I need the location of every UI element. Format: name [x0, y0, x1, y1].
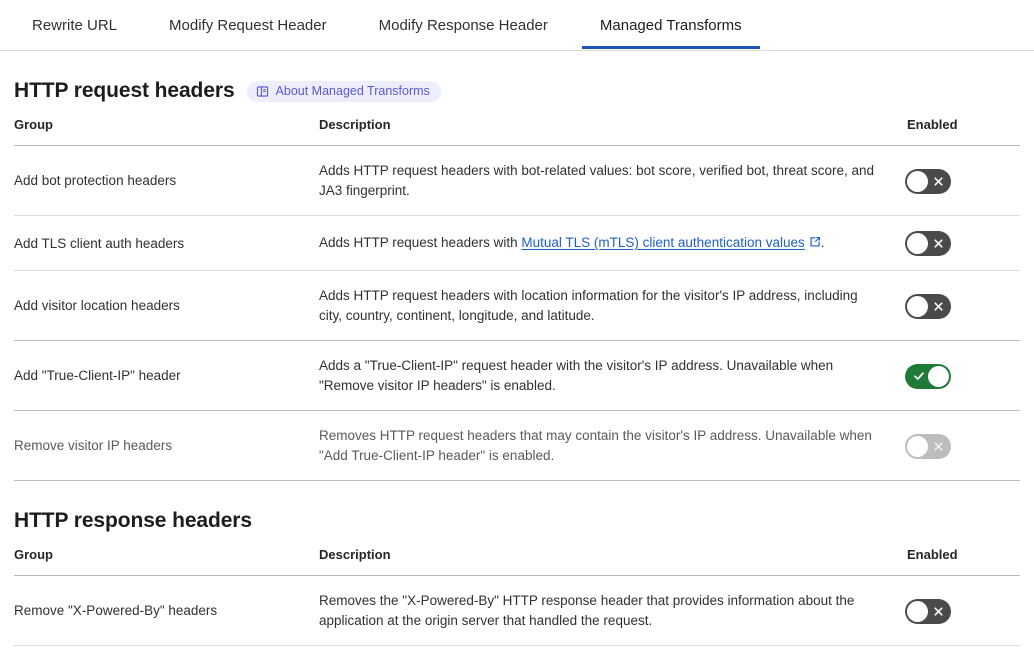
row-enabled-cell — [905, 341, 1020, 411]
row-enabled-cell — [905, 216, 1020, 271]
response-headers-table: Group Description Enabled Remove "X-Powe… — [14, 547, 1020, 653]
toggle-knob — [907, 171, 928, 192]
row-group-label: Remove visitor IP headers — [14, 411, 319, 481]
check-icon — [913, 364, 925, 389]
row-description: Adds HTTP request headers with bot-relat… — [319, 146, 905, 216]
toggle-remove-x-powered-by-headers[interactable] — [905, 599, 951, 624]
description-prefix: Adds HTTP request headers with — [319, 235, 521, 250]
description-suffix: . — [821, 235, 825, 250]
table-row: Remove visitor IP headers Removes HTTP r… — [14, 411, 1020, 481]
tab-rewrite-url[interactable]: Rewrite URL — [14, 0, 135, 49]
row-description: Adds several security-related HTTP respo… — [319, 646, 905, 653]
toggle-knob — [907, 233, 928, 254]
table-row: Add visitor location headers Adds HTTP r… — [14, 271, 1020, 341]
toggle-knob — [907, 601, 928, 622]
table-row: Add bot protection headers Adds HTTP req… — [14, 146, 1020, 216]
managed-transforms-page: Rewrite URL Modify Request Header Modify… — [0, 0, 1034, 653]
mtls-client-auth-link[interactable]: Mutual TLS (mTLS) client authentication … — [521, 235, 804, 250]
row-group-label: Add visitor location headers — [14, 271, 319, 341]
toggle-remove-visitor-ip-headers — [905, 434, 951, 459]
row-description: Adds HTTP request headers with Mutual TL… — [319, 216, 905, 271]
toggle-add-bot-protection-headers[interactable] — [905, 169, 951, 194]
toggle-knob — [907, 296, 928, 317]
tab-modify-request-header[interactable]: Modify Request Header — [151, 0, 345, 49]
toggle-add-tls-client-auth-headers[interactable] — [905, 231, 951, 256]
row-group-label: Add bot protection headers — [14, 146, 319, 216]
table-header-row: Group Description Enabled — [14, 547, 1020, 576]
response-section-title: HTTP response headers — [14, 509, 252, 533]
request-section-header: HTTP request headers About Managed Trans… — [14, 79, 1020, 103]
table-row: Add TLS client auth headers Adds HTTP re… — [14, 216, 1020, 271]
table-row: Add "True-Client-IP" header Adds a "True… — [14, 341, 1020, 411]
response-section-header: HTTP response headers — [14, 509, 1020, 533]
row-enabled-cell — [905, 646, 1020, 653]
close-icon — [932, 294, 944, 319]
close-icon — [932, 231, 944, 256]
column-header-group: Group — [14, 117, 319, 146]
row-enabled-cell — [905, 411, 1020, 481]
toggle-knob — [907, 436, 928, 457]
book-icon — [256, 85, 269, 98]
row-enabled-cell — [905, 576, 1020, 646]
table-row: Remove "X-Powered-By" headers Removes th… — [14, 576, 1020, 646]
toggle-add-true-client-ip-header[interactable] — [905, 364, 951, 389]
toggle-add-visitor-location-headers[interactable] — [905, 294, 951, 319]
column-header-group: Group — [14, 547, 319, 576]
column-header-description: Description — [319, 547, 905, 576]
tab-modify-response-header[interactable]: Modify Response Header — [361, 0, 566, 49]
table-row: Add security headers Adds several securi… — [14, 646, 1020, 653]
tab-bar: Rewrite URL Modify Request Header Modify… — [0, 0, 1034, 51]
http-response-headers-section: HTTP response headers Group Description … — [0, 509, 1034, 653]
row-group-label: Add security headers — [14, 646, 319, 653]
http-request-headers-section: HTTP request headers About Managed Trans… — [0, 79, 1034, 481]
row-enabled-cell — [905, 271, 1020, 341]
external-link-icon[interactable] — [809, 234, 821, 254]
row-group-label: Add TLS client auth headers — [14, 216, 319, 271]
toggle-knob — [928, 366, 949, 387]
row-description: Removes the "X-Powered-By" HTTP response… — [319, 576, 905, 646]
row-enabled-cell — [905, 146, 1020, 216]
badge-label: About Managed Transforms — [276, 85, 430, 98]
tab-managed-transforms[interactable]: Managed Transforms — [582, 0, 760, 49]
table-header-row: Group Description Enabled — [14, 117, 1020, 146]
column-header-enabled: Enabled — [905, 117, 1020, 146]
request-headers-table: Group Description Enabled Add bot protec… — [14, 117, 1020, 481]
row-group-label: Add "True-Client-IP" header — [14, 341, 319, 411]
about-managed-transforms-badge[interactable]: About Managed Transforms — [247, 81, 441, 102]
close-icon — [932, 169, 944, 194]
close-icon — [932, 434, 944, 459]
row-description: Removes HTTP request headers that may co… — [319, 411, 905, 481]
row-group-label: Remove "X-Powered-By" headers — [14, 576, 319, 646]
column-header-enabled: Enabled — [905, 547, 1020, 576]
close-icon — [932, 599, 944, 624]
column-header-description: Description — [319, 117, 905, 146]
row-description: Adds HTTP request headers with location … — [319, 271, 905, 341]
row-description: Adds a "True-Client-IP" request header w… — [319, 341, 905, 411]
request-section-title: HTTP request headers — [14, 79, 235, 103]
